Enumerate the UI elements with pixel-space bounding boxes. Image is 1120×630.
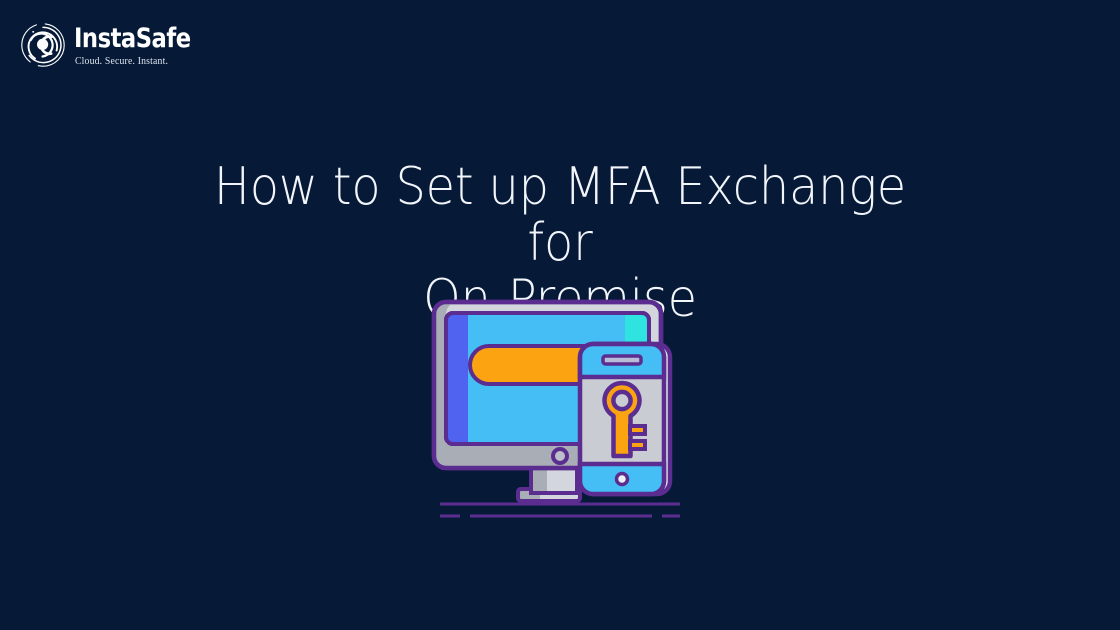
phone-home-button (617, 474, 628, 485)
brand-logo[interactable]: InstaSafe Cloud. Secure. Instant. (20, 22, 213, 68)
ground-dashes (440, 504, 680, 516)
page-title-line-1: How to Set up MFA Exchange for (210, 159, 909, 271)
monitor-power-button (553, 449, 567, 463)
logo-text-group: InstaSafe Cloud. Secure. Instant. (74, 24, 213, 67)
phone-speaker-slot (603, 356, 641, 364)
logo-tagline: Cloud. Secure. Instant. (75, 57, 209, 67)
monitor-and-phone-with-key-illustration (430, 298, 690, 528)
smartphone (580, 344, 670, 494)
instasafe-spiral-icon (20, 22, 66, 68)
logo-wordmark: InstaSafe (74, 25, 191, 52)
slide-canvas: InstaSafe Cloud. Secure. Instant. How to… (0, 0, 1120, 630)
